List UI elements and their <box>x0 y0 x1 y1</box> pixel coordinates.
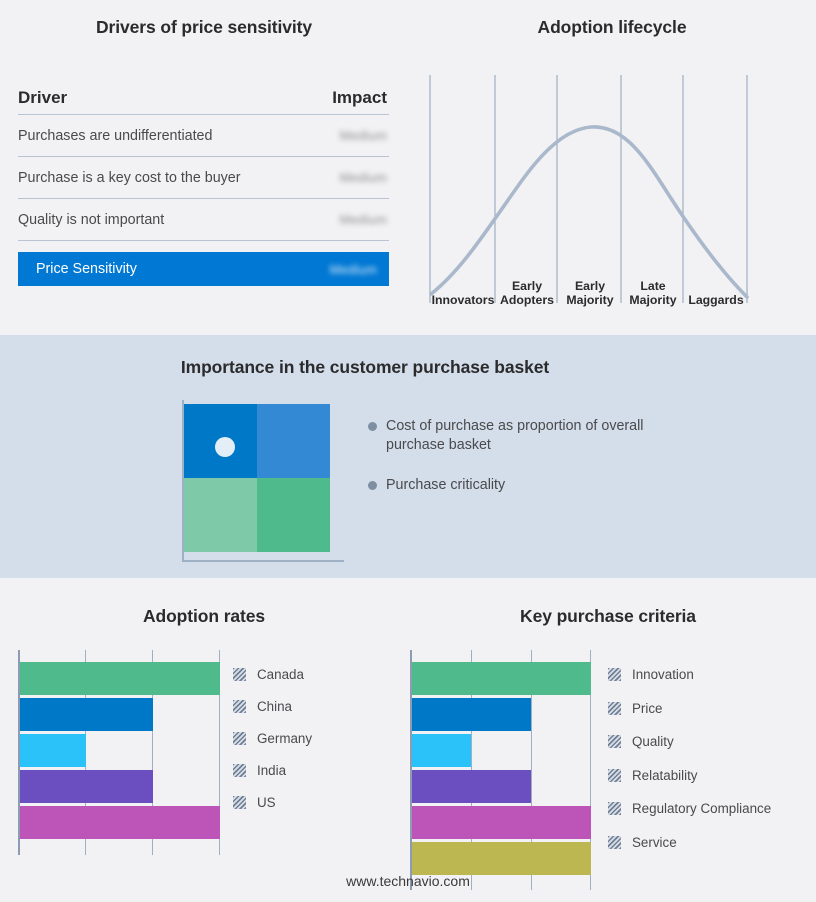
driver-label: Purchase is a key cost to the buyer <box>18 170 241 186</box>
adoption-panel-title: Adoption rates <box>0 606 408 627</box>
key-purchase-criteria-panel: Key purchase criteria Innovation Price Q… <box>400 590 816 902</box>
list-item: Germany <box>233 722 383 754</box>
lifecycle-stage-innovators: Innovators <box>430 293 496 307</box>
price-sensitivity-highlight-row: Price Sensitivity Medium <box>18 252 389 286</box>
lifecycle-stage-laggards: Laggards <box>684 293 748 307</box>
lifecycle-bell-curve <box>431 127 747 297</box>
quadrant-top-left <box>184 404 257 478</box>
criteria-panel-title: Key purchase criteria <box>400 606 816 627</box>
list-item: Cost of purchase as proportion of overal… <box>368 417 668 455</box>
list-item: Innovation <box>608 658 808 692</box>
list-item: Purchase criticality <box>368 476 668 495</box>
legend-label: US <box>257 795 276 810</box>
legend-label: Price <box>632 701 663 716</box>
stage-label-line1: Early <box>575 279 605 293</box>
list-item: Service <box>608 826 808 860</box>
drivers-of-price-sensitivity-panel: Drivers of price sensitivity Driver Impa… <box>0 0 408 335</box>
table-row <box>412 662 591 695</box>
column-header-driver: Driver <box>18 88 67 108</box>
lifecycle-panel-title: Adoption lifecycle <box>408 0 816 38</box>
driver-label: Quality is not important <box>18 212 164 228</box>
bullet-dot-icon <box>368 422 377 431</box>
quadrant-bottom-left <box>184 478 257 552</box>
impact-value: Medium <box>340 128 387 143</box>
column-header-impact: Impact <box>332 88 387 108</box>
footer-url: www.technavio.com <box>0 873 816 889</box>
legend-swatch-icon <box>608 836 621 849</box>
lifecycle-chart: Innovators Early Adopters Early Majority… <box>425 75 799 315</box>
legend-label: Innovation <box>632 667 694 682</box>
impact-value: Medium <box>340 170 387 185</box>
basket-legend-label: Purchase criticality <box>386 476 505 495</box>
criteria-legend: Innovation Price Quality Relatability Re… <box>608 658 808 859</box>
table-row <box>20 662 220 695</box>
adoption-rates-chart <box>18 650 222 855</box>
impact-value: Medium <box>340 212 387 227</box>
basket-legend: Cost of purchase as proportion of overal… <box>368 417 668 516</box>
table-row <box>412 806 591 839</box>
drivers-panel-title: Drivers of price sensitivity <box>0 0 408 38</box>
bar-group <box>20 662 220 839</box>
stage-label-line2: Laggards <box>688 293 743 307</box>
adoption-rates-panel: Adoption rates Canada China Germany I <box>0 590 408 902</box>
lifecycle-gridlines <box>430 75 747 303</box>
legend-swatch-icon <box>233 796 246 809</box>
basket-legend-label: Cost of purchase as proportion of overal… <box>386 417 668 455</box>
table-row <box>20 770 153 803</box>
legend-label: Germany <box>257 731 312 746</box>
list-item: US <box>233 786 383 818</box>
legend-swatch-icon <box>233 732 246 745</box>
table-row <box>412 698 531 731</box>
drivers-table: Driver Impact Purchases are undifferenti… <box>18 88 389 286</box>
legend-label: Quality <box>632 734 674 749</box>
legend-swatch-icon <box>608 668 621 681</box>
list-item: Price <box>608 692 808 726</box>
legend-label: China <box>257 699 292 714</box>
quadrant-top-right <box>257 404 330 478</box>
legend-swatch-icon <box>608 735 621 748</box>
table-row <box>412 770 531 803</box>
list-item: Regulatory Compliance <box>608 792 808 826</box>
list-item: Canada <box>233 658 383 690</box>
table-row: Quality is not important Medium <box>18 199 389 241</box>
adoption-lifecycle-panel: Adoption lifecycle Innovators Early Adop… <box>408 0 816 335</box>
lifecycle-stage-late-majority: Late Majority <box>622 279 684 307</box>
legend-swatch-icon <box>233 764 246 777</box>
adoption-legend: Canada China Germany India US <box>233 658 383 818</box>
legend-swatch-icon <box>608 802 621 815</box>
driver-label: Purchases are undifferentiated <box>18 128 212 144</box>
legend-label: Relatability <box>632 768 698 783</box>
stage-label-line2: Majority <box>629 293 676 307</box>
stage-label-line2: Innovators <box>432 293 495 307</box>
table-row <box>20 734 86 767</box>
legend-swatch-icon <box>233 668 246 681</box>
list-item: India <box>233 754 383 786</box>
lifecycle-stage-early-adopters: Early Adopters <box>496 279 558 307</box>
table-row: Purchases are undifferentiated Medium <box>18 115 389 157</box>
data-point-marker <box>215 437 235 457</box>
list-item: Relatability <box>608 759 808 793</box>
quadrant-x-axis <box>182 560 344 562</box>
stage-label-line1: Late <box>640 279 665 293</box>
legend-label: Service <box>632 835 677 850</box>
lifecycle-stage-early-majority: Early Majority <box>558 279 622 307</box>
stage-label-line2: Adopters <box>500 293 554 307</box>
table-row <box>412 842 591 875</box>
bullet-dot-icon <box>368 481 377 490</box>
legend-label: Regulatory Compliance <box>632 801 771 816</box>
list-item: China <box>233 690 383 722</box>
stage-label-line2: Majority <box>566 293 613 307</box>
list-item: Quality <box>608 725 808 759</box>
legend-swatch-icon <box>608 702 621 715</box>
quadrant-chart <box>182 400 352 570</box>
table-row <box>20 698 153 731</box>
impact-value: Medium <box>330 262 377 277</box>
legend-swatch-icon <box>233 700 246 713</box>
legend-swatch-icon <box>608 769 621 782</box>
bar-group <box>412 662 591 875</box>
table-row: Purchase is a key cost to the buyer Medi… <box>18 157 389 199</box>
legend-label: Canada <box>257 667 304 682</box>
driver-label: Price Sensitivity <box>36 261 137 277</box>
basket-panel-title: Importance in the customer purchase bask… <box>0 357 730 378</box>
drivers-table-header: Driver Impact <box>18 88 389 115</box>
quadrant-bottom-right <box>257 478 330 552</box>
stage-label-line1: Early <box>512 279 542 293</box>
quadrant-cells <box>184 404 330 552</box>
key-purchase-criteria-chart <box>410 650 592 890</box>
table-row <box>20 806 220 839</box>
table-row <box>412 734 471 767</box>
legend-label: India <box>257 763 286 778</box>
